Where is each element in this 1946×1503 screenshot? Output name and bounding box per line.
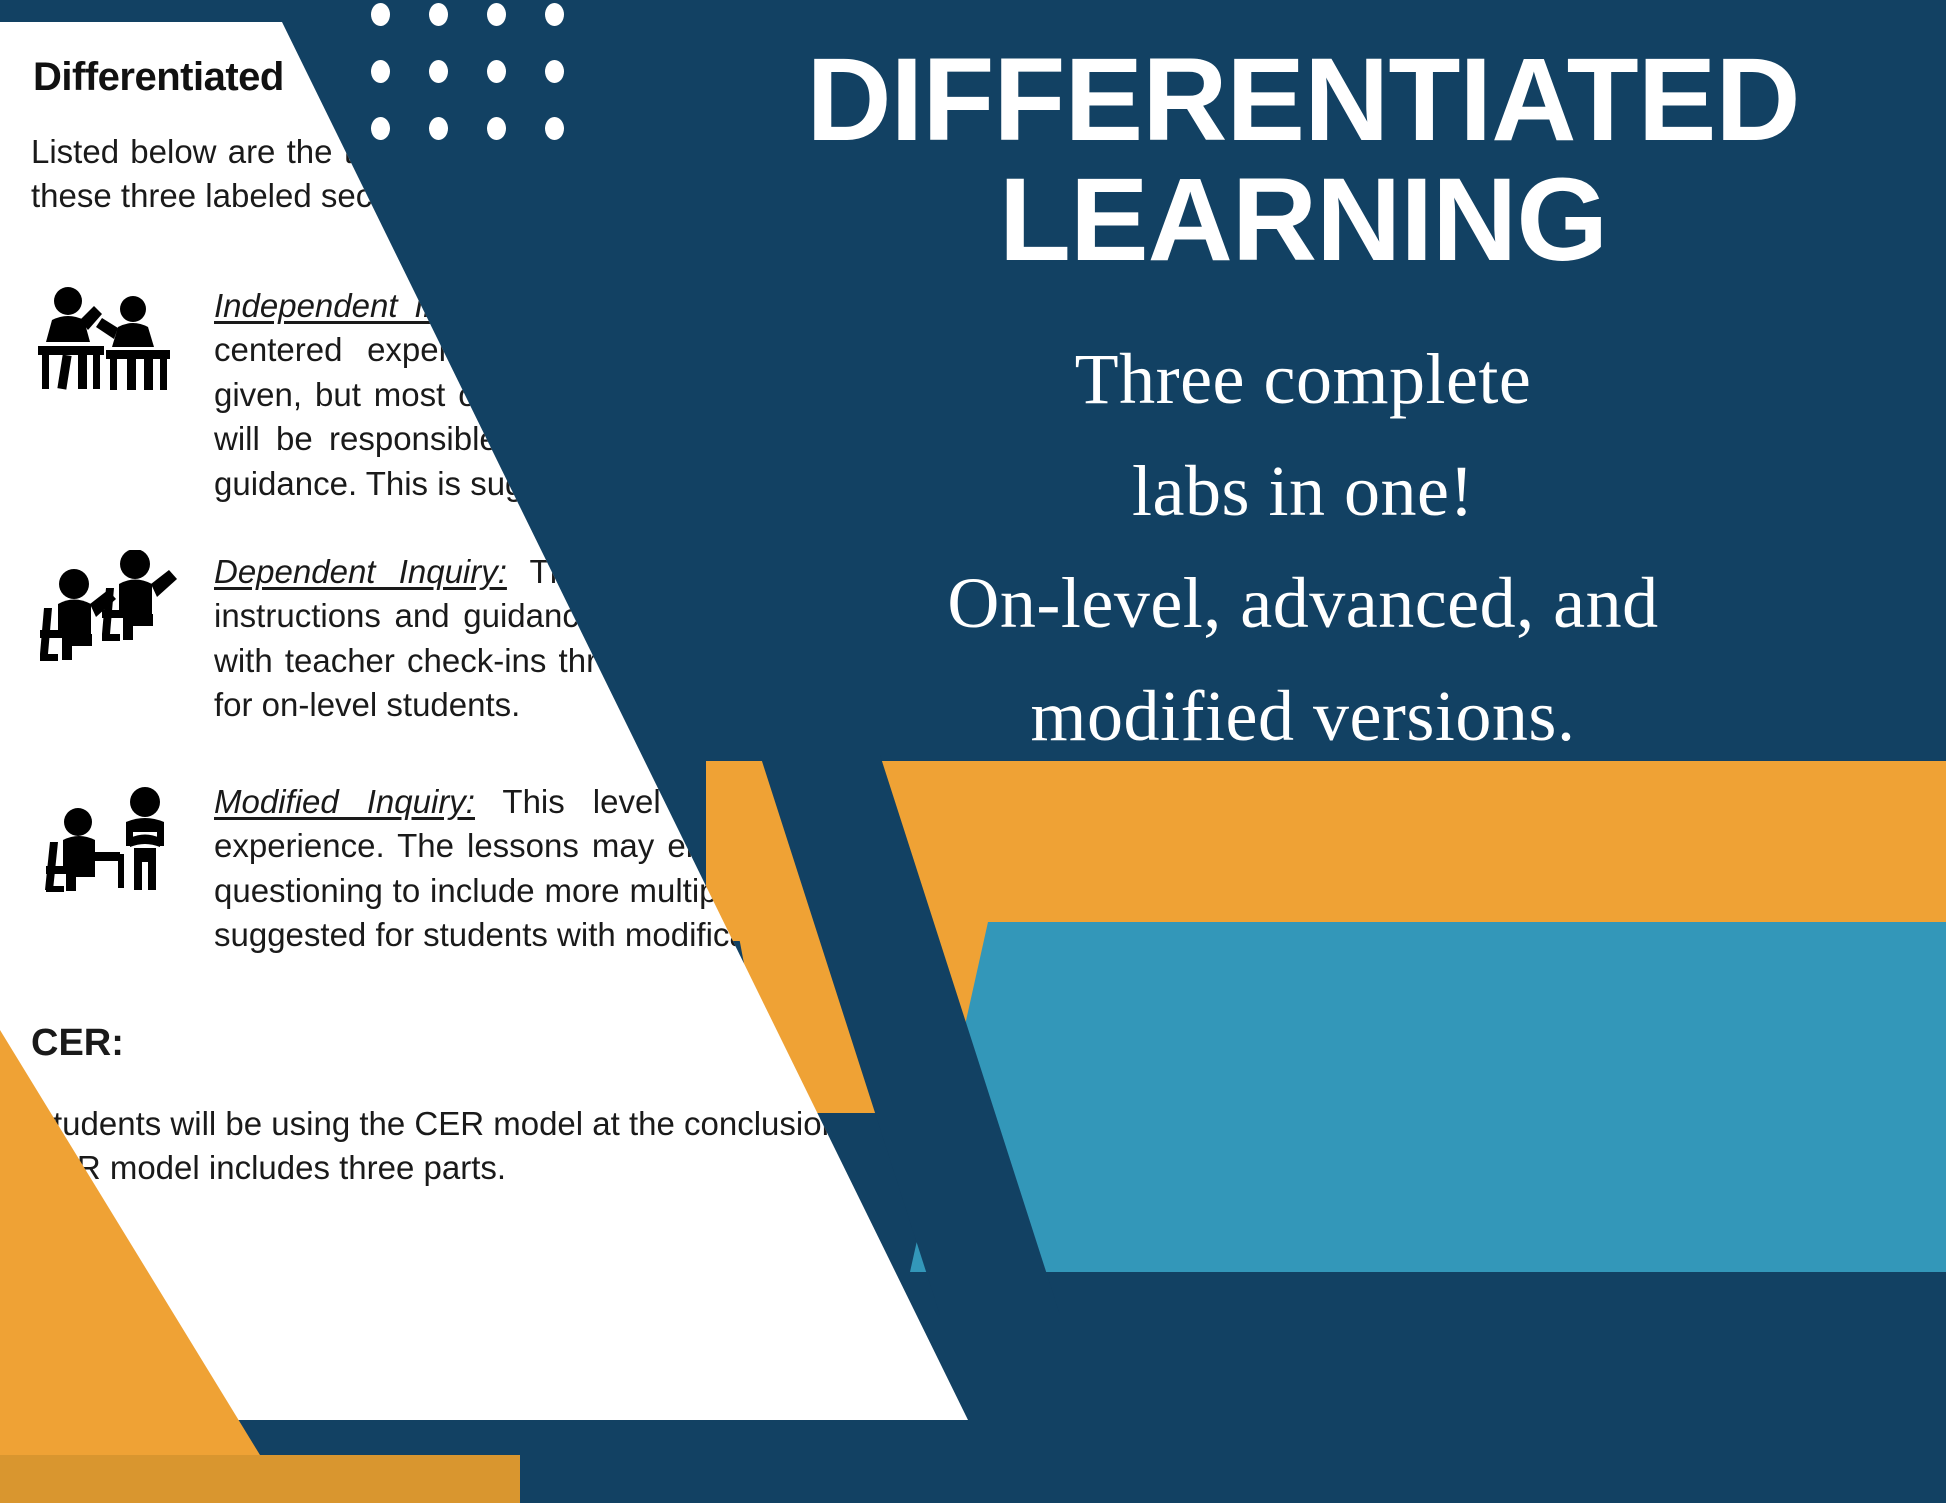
- subline-1: Three complete: [660, 323, 1946, 435]
- decor-dot: [429, 117, 448, 140]
- decor-dot: [545, 60, 564, 83]
- headline: DIFFERENTIATED LEARNING: [660, 40, 1946, 281]
- right-text-column: DIFFERENTIATED LEARNING Three complete l…: [660, 40, 1946, 740]
- subheadline-block: Three complete labs in one! On-level, ad…: [660, 323, 1946, 772]
- decor-dot: [545, 3, 564, 26]
- teal-band: [910, 922, 1946, 1272]
- decor-dot: [429, 3, 448, 26]
- decor-dot: [487, 60, 506, 83]
- subline-4: modified versions.: [660, 660, 1946, 772]
- bottom-orange-strip: [0, 1455, 520, 1503]
- decor-dot: [429, 60, 448, 83]
- subline-3: On-level, advanced, and: [660, 547, 1946, 659]
- decor-dot: [371, 60, 390, 83]
- headline-line-2: LEARNING: [660, 160, 1946, 280]
- headline-line-1: DIFFERENTIATED: [660, 40, 1946, 160]
- subline-2: labs in one!: [660, 435, 1946, 547]
- inquiry-label-dependent: Dependent Inquiry:: [214, 553, 507, 590]
- teacher-with-student-icon: [30, 780, 190, 890]
- decor-dot: [371, 3, 390, 26]
- decor-dot: [487, 3, 506, 26]
- students-at-desks-icon: [30, 284, 190, 394]
- slide-canvas: Differentiated Listed below are the thre…: [0, 0, 1946, 1503]
- students-raising-hands-icon: [30, 550, 190, 660]
- decor-dot: [487, 117, 506, 140]
- inquiry-label-modified: Modified Inquiry:: [214, 783, 475, 820]
- decor-dot: [545, 117, 564, 140]
- document-title: Differentiated: [33, 55, 284, 100]
- dot-grid-top: [371, 3, 603, 174]
- decor-dot: [371, 117, 390, 140]
- cer-heading: CER:: [31, 1022, 124, 1065]
